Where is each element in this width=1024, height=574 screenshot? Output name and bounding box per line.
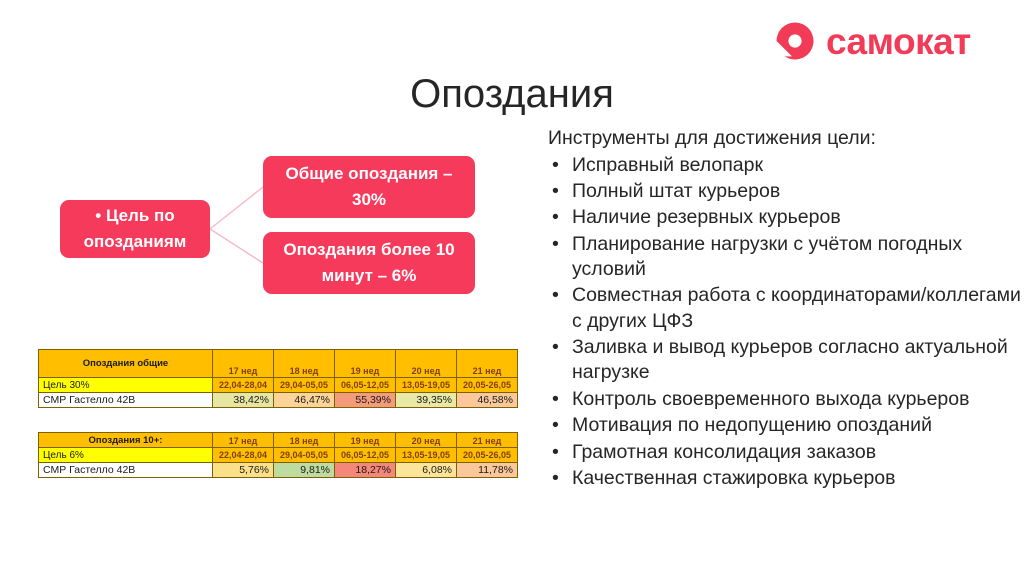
bullet-icon: • (552, 466, 559, 491)
diagram-node-goal: • Цель по опозданиям (60, 200, 210, 258)
list-item-label: Совместная работа с координаторами/колле… (572, 284, 1021, 331)
list-item-label: Заливка и вывод курьеров согласно актуал… (572, 336, 1008, 383)
bullet-icon: • (552, 413, 559, 438)
bullet-icon: • (552, 153, 559, 178)
bullet-icon: • (552, 205, 559, 230)
table-data-value-5: 46,58% (457, 393, 518, 408)
tools-heading: Инструменты для достижения цели: (548, 126, 1022, 152)
table-goal-label: Цель 30% (39, 378, 213, 393)
table-data-value-1: 38,42% (213, 393, 274, 408)
goals-diagram: • Цель по опозданиям Общие опоздания – 3… (60, 150, 510, 310)
list-item: •Исправный велопарк (548, 153, 1022, 178)
list-item: •Качественная стажировка курьеров (548, 466, 1022, 491)
table-header-week-1: 17 нед (213, 350, 274, 378)
list-item: •Совместная работа с координаторами/колл… (548, 283, 1022, 334)
bullet-icon: • (552, 232, 559, 257)
table-header-week-1: 17 нед (213, 433, 274, 448)
table-data-value-2: 46,47% (274, 393, 335, 408)
table-goal-date-3: 06,05-12,05 (335, 378, 396, 393)
table-row-header: Опоздания общие 17 нед 18 нед 19 нед 20 … (39, 350, 518, 378)
table-header-week-4: 20 нед (396, 433, 457, 448)
table-row-goal: Цель 30% 22,04-28,04 29,04-05,05 06,05-1… (39, 378, 518, 393)
table-data-value-5: 11,78% (457, 463, 518, 478)
list-item-label: Мотивация по недопущению опозданий (572, 414, 932, 436)
table-row-goal: Цель 6% 22,04-28,04 29,04-05,05 06,05-12… (39, 448, 518, 463)
list-item: •Грамотная консолидация заказов (548, 440, 1022, 465)
table-goal-date-2: 29,04-05,05 (274, 378, 335, 393)
table-goal-date-1: 22,04-28,04 (213, 448, 274, 463)
table-row-header: Опоздания 10+: 17 нед 18 нед 19 нед 20 н… (39, 433, 518, 448)
diagram-node-total-delays: Общие опоздания – 30% (263, 156, 475, 218)
table-row-data: СМР Гастелло 42В 5,76% 9,81% 18,27% 6,08… (39, 463, 518, 478)
tools-list: •Исправный велопарк •Полный штат курьеро… (548, 153, 1022, 491)
bullet-icon: • (552, 387, 559, 412)
table-header-week-3: 19 нед (335, 350, 396, 378)
table-header-week-5: 21 нед (457, 350, 518, 378)
table-data-label: СМР Гастелло 42В (39, 463, 213, 478)
bullet-icon: • (552, 440, 559, 465)
list-item-label: Контроль своевременного выхода курьеров (572, 388, 969, 410)
list-item-label: Планирование нагрузки с учётом погодных … (572, 233, 962, 280)
page-title: Опоздания (0, 72, 1024, 116)
table-row-data: СМР Гастелло 42В 38,42% 46,47% 55,39% 39… (39, 393, 518, 408)
table-title-cell: Опоздания общие (39, 350, 213, 378)
table-goal-date-1: 22,04-28,04 (213, 378, 274, 393)
list-item: •Заливка и вывод курьеров согласно актуа… (548, 335, 1022, 386)
bullet-icon: • (552, 179, 559, 204)
table-header-week-2: 18 нед (274, 433, 335, 448)
table-data-label: СМР Гастелло 42В (39, 393, 213, 408)
table-header-week-2: 18 нед (274, 350, 335, 378)
table-data-value-3: 18,27% (335, 463, 396, 478)
table-goal-date-5: 20,05-26,05 (457, 448, 518, 463)
table-goal-date-5: 20,05-26,05 (457, 378, 518, 393)
table-total-delays: Опоздания общие 17 нед 18 нед 19 нед 20 … (38, 349, 518, 408)
list-item-label: Полный штат курьеров (572, 180, 780, 202)
bullet-icon: • (552, 335, 559, 360)
table-data-value-4: 39,35% (396, 393, 457, 408)
table-header-week-3: 19 нед (335, 433, 396, 448)
list-item-label: Качественная стажировка курьеров (572, 467, 896, 489)
list-item: •Полный штат курьеров (548, 179, 1022, 204)
table-goal-date-3: 06,05-12,05 (335, 448, 396, 463)
table-goal-label: Цель 6% (39, 448, 213, 463)
list-item: •Планирование нагрузки с учётом погодных… (548, 232, 1022, 283)
list-item-label: Наличие резервных курьеров (572, 206, 841, 228)
table-goal-date-2: 29,04-05,05 (274, 448, 335, 463)
list-item: •Контроль своевременного выхода курьеров (548, 387, 1022, 412)
list-item-label: Исправный велопарк (572, 154, 763, 176)
tools-panel: Инструменты для достижения цели: •Исправ… (548, 126, 1022, 492)
table-data-value-1: 5,76% (213, 463, 274, 478)
table-goal-date-4: 13,05-19,05 (396, 378, 457, 393)
table-header-week-5: 21 нед (457, 433, 518, 448)
samokat-circle-icon (776, 22, 814, 60)
table-title-cell: Опоздания 10+: (39, 433, 213, 448)
brand-name: самокат (826, 23, 971, 60)
table-data-value-4: 6,08% (396, 463, 457, 478)
table-goal-date-4: 13,05-19,05 (396, 448, 457, 463)
list-item: •Наличие резервных курьеров (548, 205, 1022, 230)
table-data-value-3: 55,39% (335, 393, 396, 408)
brand-logo: самокат (776, 22, 971, 60)
table-data-value-2: 9,81% (274, 463, 335, 478)
list-item-label: Грамотная консолидация заказов (572, 441, 876, 463)
table-over10-delays: Опоздания 10+: 17 нед 18 нед 19 нед 20 н… (38, 432, 518, 478)
list-item: •Мотивация по недопущению опозданий (548, 413, 1022, 438)
table-header-week-4: 20 нед (396, 350, 457, 378)
bullet-icon: • (552, 283, 559, 308)
diagram-node-over10-delays: Опоздания более 10 минут – 6% (263, 232, 475, 294)
